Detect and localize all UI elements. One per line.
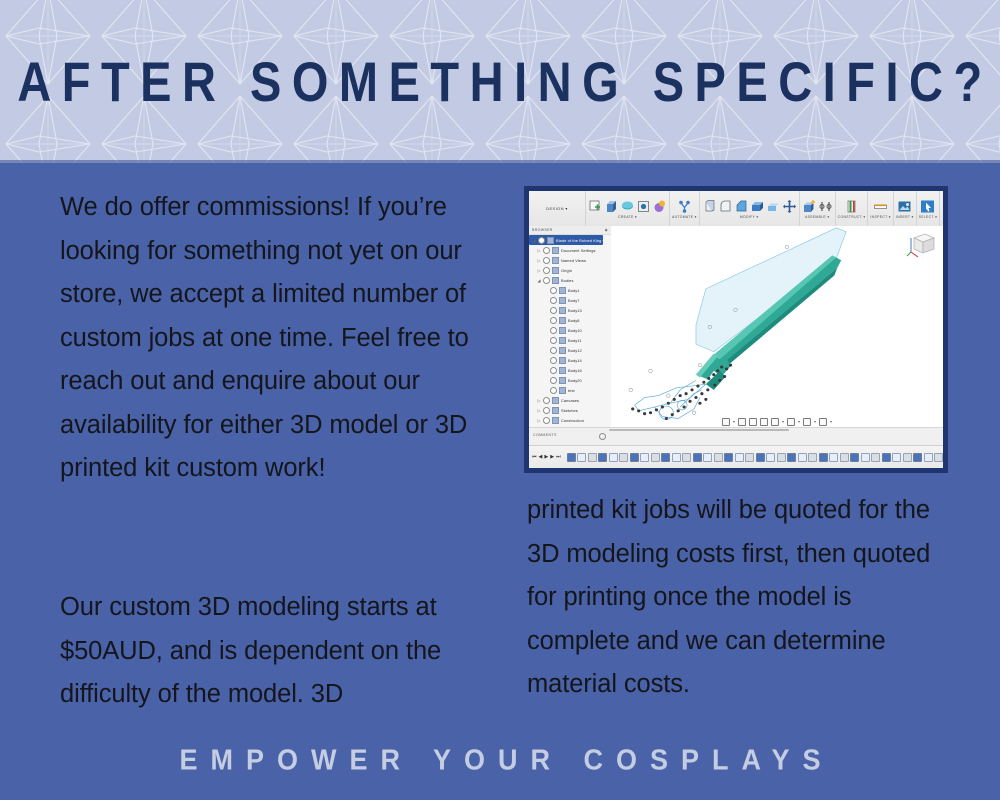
comments-panel-label: COMMENTS (533, 433, 557, 437)
paragraph-pricing-start: Our custom 3D modeling starts at $50AUD,… (60, 586, 500, 717)
timeline-feature-icon[interactable] (913, 453, 922, 462)
timeline-feature-icon[interactable] (598, 453, 607, 462)
look-at-chevron-down-icon[interactable]: ▾ (782, 419, 784, 425)
timeline-feature-icon[interactable] (945, 453, 948, 462)
sword-model-graphic (611, 226, 943, 428)
timeline-feature-icon[interactable] (693, 453, 702, 462)
visibility-eye-icon[interactable] (543, 267, 550, 274)
poster-page: AFTER SOMETHING SPECIFIC? We do offer co… (0, 0, 1000, 800)
model-viewport[interactable]: ▾ ▾ ▾ ▾ ▾ (611, 226, 943, 428)
timeline-feature-icon[interactable] (619, 453, 628, 462)
body-icon (559, 367, 566, 374)
browser-tree-item-label: Body11 (568, 338, 582, 343)
views-icon (552, 257, 559, 264)
visibility-eye-icon[interactable] (550, 307, 557, 314)
document-icon (547, 237, 554, 244)
look-at-icon[interactable] (771, 418, 779, 426)
origin-icon (552, 267, 559, 274)
grid-settings-icon[interactable] (803, 418, 811, 426)
timeline-scrollbar[interactable] (609, 429, 789, 431)
comments-options-icon[interactable] (599, 433, 606, 440)
timeline-feature-icon[interactable] (588, 453, 597, 462)
timeline-feature-icon[interactable] (808, 453, 817, 462)
expand-triangle-right-icon[interactable]: ▷ (537, 408, 541, 413)
visibility-eye-icon[interactable] (543, 277, 550, 284)
visibility-eye-icon[interactable] (543, 247, 550, 254)
reference-canvas-plane (696, 228, 846, 352)
new-sketch-icon[interactable] (588, 199, 603, 214)
offset-plane-icon[interactable] (844, 199, 859, 214)
expand-triangle-down-icon[interactable]: ◢ (537, 278, 541, 283)
browser-tree-item[interactable]: Body20 (529, 375, 611, 385)
expand-triangle-down-icon[interactable]: ◢ (532, 238, 536, 243)
toolbar-group-assemble: ASSEMBLE ▾ (800, 191, 836, 226)
visibility-eye-icon[interactable] (543, 417, 550, 424)
timeline-feature-icon[interactable] (787, 453, 796, 462)
timeline-feature-icon[interactable] (840, 453, 849, 462)
toolbar-group-create: CREATE ▾ (586, 191, 670, 226)
toolbar-group-construct: CONSTRUCT ▾ (836, 191, 869, 226)
visibility-eye-icon[interactable] (550, 377, 557, 384)
browser-tree-item-label: Origin (561, 268, 572, 273)
timeline-feature-icon[interactable] (714, 453, 723, 462)
sketches-icon (552, 407, 559, 414)
browser-tree-item-label: Sketches (561, 408, 578, 413)
body-icon (559, 337, 566, 344)
toolbar-group-inspect: INSPECT ▾ (868, 191, 893, 226)
canvases-icon (552, 397, 559, 404)
toolbar-group-insert: INSERT ▾ (894, 191, 917, 226)
view-cube-icon[interactable] (903, 230, 937, 262)
viewport-navigation-bar[interactable]: ▾ ▾ ▾ ▾ ▾ (722, 418, 832, 426)
cad-screenshot: DESIGN ▾ (524, 186, 948, 473)
browser-panel-header: BROWSER ◉ (529, 226, 611, 235)
paragraph-pricing-continued: printed kit jobs will be quoted for the … (527, 489, 947, 707)
browser-tree-item-label: Body20 (568, 378, 582, 383)
browser-tree-item[interactable]: Body16 (529, 365, 611, 375)
visibility-eye-icon[interactable] (550, 367, 557, 374)
timeline-feature-icon[interactable] (630, 453, 639, 462)
hole-icon[interactable] (636, 199, 651, 214)
timeline-feature-icon[interactable] (724, 453, 733, 462)
visibility-eye-icon[interactable] (538, 237, 545, 244)
timeline-feature-icon[interactable] (777, 453, 786, 462)
visibility-eye-icon[interactable] (550, 357, 557, 364)
expand-triangle-right-icon[interactable]: ▷ (537, 418, 541, 423)
browser-tree-item[interactable]: ◢Blade of the Ruined King v23 (529, 235, 603, 245)
joint-icon[interactable] (818, 199, 833, 214)
visibility-eye-icon[interactable] (543, 397, 550, 404)
timeline-feature-icon[interactable] (766, 453, 775, 462)
timeline-feature-icon[interactable] (882, 453, 891, 462)
sphere-icon[interactable] (652, 199, 667, 214)
insert-canvas-icon[interactable] (897, 199, 912, 214)
browser-tree-item[interactable]: Body14 (529, 355, 611, 365)
grid-chevron-down-icon[interactable]: ▾ (814, 419, 816, 425)
toolbar-group-select: SELECT ▾ (917, 191, 941, 226)
timeline-feature-icon[interactable] (819, 453, 828, 462)
browser-tree-item-label: Blade of the Ruined King v23 (556, 238, 603, 243)
construction-icon (552, 417, 559, 424)
timeline-feature-icon[interactable] (661, 453, 670, 462)
browser-tree-item[interactable]: Body7 (529, 295, 611, 305)
browser-tree-item-label: Body14 (568, 358, 582, 363)
chamfer-icon[interactable] (734, 199, 749, 214)
browser-tree-item[interactable]: Body8 (529, 315, 611, 325)
browser-tree-item[interactable]: Body11 (529, 335, 611, 345)
header-banner: AFTER SOMETHING SPECIFIC? (0, 0, 1000, 163)
browser-panel-title: BROWSER (532, 228, 553, 232)
toolbar-group-assemble-label: ASSEMBLE ▾ (805, 214, 829, 220)
browser-tree-item-label: Body10 (568, 328, 582, 333)
browser-tree-item-label: Body13 (568, 308, 582, 313)
timeline-feature-icon[interactable] (640, 453, 649, 462)
scale-icon[interactable] (766, 199, 781, 214)
browser-tree-item-label: Bodies (561, 278, 574, 283)
step-back-icon[interactable]: ◀ (539, 453, 543, 461)
visibility-eye-icon[interactable] (550, 287, 557, 294)
viewports-chevron-down-icon[interactable]: ▾ (830, 419, 832, 425)
display-chevron-down-icon[interactable]: ▾ (798, 419, 800, 425)
play-icon[interactable]: ▶ (544, 453, 548, 461)
timeline-feature-icon[interactable] (735, 453, 744, 462)
sketch-points (631, 364, 732, 420)
viewports-icon[interactable] (819, 418, 827, 426)
select-cursor-icon[interactable] (920, 199, 935, 214)
browser-tree-item-label: Canvases (561, 398, 579, 403)
browser-tree-item-label: Named Views (561, 258, 586, 263)
timeline-feature-icon[interactable] (850, 453, 859, 462)
timeline-feature-icon[interactable] (682, 453, 691, 462)
timeline-feature-icon[interactable] (829, 453, 838, 462)
step-forward-icon[interactable]: ▶ (550, 453, 554, 461)
timeline-feature-icon[interactable] (609, 453, 618, 462)
visibility-eye-icon[interactable] (550, 337, 557, 344)
timeline-feature-icon[interactable] (934, 453, 943, 462)
browser-tree: ◢Blade of the Ruined King v23▷Document S… (529, 235, 611, 425)
browser-tree-item-label: Body16 (568, 368, 582, 373)
browser-tree-item[interactable]: Body1 (529, 285, 611, 295)
browser-tree-item-label: Body8 (568, 318, 580, 323)
toolbar-group-automate-label: AUTOMATE ▾ (672, 214, 697, 220)
timeline-feature-icon[interactable] (798, 453, 807, 462)
body-icon (559, 347, 566, 354)
cad-toolbar: DESIGN ▾ (529, 191, 943, 227)
toolbar-group-select-label: SELECT ▾ (919, 214, 938, 220)
body-icon (559, 387, 566, 394)
browser-tree-item-label: Document Settings (561, 248, 596, 253)
timeline-feature-icon[interactable] (577, 453, 586, 462)
browser-tree-item[interactable]: ▷Named Views (529, 255, 611, 265)
shell-icon[interactable] (750, 199, 765, 214)
toolbar-group-automate: AUTOMATE ▾ (670, 191, 700, 226)
go-to-end-icon[interactable]: ⏭ (556, 453, 561, 461)
body-icon (559, 357, 566, 364)
body-icon (559, 307, 566, 314)
timeline-feature-icon[interactable] (892, 453, 901, 462)
timeline-feature-icon[interactable] (903, 453, 912, 462)
paragraph-commissions: We do offer commissions! If you’re looki… (60, 186, 500, 491)
expand-triangle-right-icon[interactable]: ▷ (537, 248, 541, 253)
expand-triangle-right-icon[interactable]: ▷ (537, 398, 541, 403)
timeline-feature-icon[interactable] (861, 453, 870, 462)
automate-icon[interactable] (677, 199, 692, 214)
measure-icon[interactable] (873, 199, 888, 214)
body-icon (559, 297, 566, 304)
browser-tree-item[interactable]: ▷Sketches (529, 405, 611, 415)
toolbar-group-create-label: CREATE ▾ (618, 214, 637, 220)
visibility-eye-icon[interactable] (543, 257, 550, 264)
browser-tree-item[interactable]: Body13 (529, 305, 611, 315)
page-title: AFTER SOMETHING SPECIFIC? (0, 0, 1000, 163)
cad-app-window: DESIGN ▾ (529, 191, 943, 468)
timeline-feature-list[interactable] (567, 453, 948, 462)
timeline-feature-icon[interactable] (567, 453, 576, 462)
timeline-feature-icon[interactable] (756, 453, 765, 462)
browser-tree-item-label: Body12 (568, 348, 582, 353)
go-to-beginning-icon[interactable]: ⏮ (532, 453, 537, 461)
comments-panel[interactable]: COMMENTS (529, 427, 943, 446)
browser-tree-item-label: Body1 (568, 288, 580, 293)
visibility-eye-icon[interactable] (543, 407, 550, 414)
expand-triangle-right-icon[interactable]: ▷ (537, 268, 541, 273)
browser-tree-item[interactable]: ◢Bodies (529, 275, 611, 285)
workspace-selector[interactable]: DESIGN ▾ (529, 191, 586, 226)
timeline-feature-icon[interactable] (651, 453, 660, 462)
browser-tree-item[interactable]: ▷Document Settings (529, 245, 611, 255)
toolbar-group-modify: MODIFY ▾ (700, 191, 800, 226)
browser-tree-item[interactable]: ▷Canvases (529, 395, 611, 405)
browser-tree-item[interactable]: test (529, 385, 611, 395)
browser-tree-item-label: Body7 (568, 298, 580, 303)
visibility-eye-icon[interactable] (550, 387, 557, 394)
expand-triangle-right-icon[interactable]: ▷ (537, 258, 541, 263)
move-copy-icon[interactable] (782, 199, 797, 214)
settings-icon (552, 247, 559, 254)
visibility-eye-icon[interactable] (550, 327, 557, 334)
revolve-icon[interactable] (620, 199, 635, 214)
browser-tree-item[interactable]: ▷Origin (529, 265, 611, 275)
body-icon (559, 287, 566, 294)
press-pull-icon[interactable] (702, 199, 717, 214)
footer-tagline: EMPOWER YOUR COSPLAYS (0, 734, 1000, 787)
bodies-icon (552, 277, 559, 284)
display-settings-icon[interactable] (787, 418, 795, 426)
visibility-eye-icon[interactable] (550, 297, 557, 304)
browser-options-icon[interactable]: ◉ (605, 228, 608, 232)
toolbar-group-modify-label: MODIFY ▾ (740, 214, 759, 220)
browser-tree-item-label: test (568, 388, 575, 393)
body-icon (559, 327, 566, 334)
fillet-icon[interactable] (718, 199, 733, 214)
timeline-feature-icon[interactable] (871, 453, 880, 462)
fit-icon[interactable] (760, 418, 768, 426)
browser-panel: BROWSER ◉ ◢Blade of the Ruined King v23▷… (529, 226, 612, 428)
timeline-feature-icon[interactable] (745, 453, 754, 462)
visibility-eye-icon[interactable] (550, 347, 557, 354)
toolbar-group-inspect-label: INSPECT ▾ (870, 214, 890, 220)
body-icon (559, 377, 566, 384)
timeline-bar[interactable]: ⏮ ◀ ▶ ▶ ⏭ (529, 445, 946, 468)
body-icon (559, 317, 566, 324)
extrude-icon[interactable] (604, 199, 619, 214)
timeline-feature-icon[interactable] (924, 453, 933, 462)
orbit-chevron-down-icon[interactable]: ▾ (733, 419, 735, 425)
toolbar-group-insert-label: INSERT ▾ (896, 214, 914, 220)
browser-tree-item[interactable]: Body10 (529, 325, 611, 335)
timeline-feature-icon[interactable] (703, 453, 712, 462)
timeline-feature-icon[interactable] (672, 453, 681, 462)
new-component-icon[interactable] (802, 199, 817, 214)
orbit-icon[interactable] (722, 418, 730, 426)
browser-tree-item[interactable]: ▷Construction (529, 415, 611, 425)
zoom-icon[interactable] (749, 418, 757, 426)
browser-tree-item-label: Construction (561, 418, 584, 423)
browser-tree-item[interactable]: Body12 (529, 345, 611, 355)
visibility-eye-icon[interactable] (550, 317, 557, 324)
toolbar-group-construct-label: CONSTRUCT ▾ (838, 214, 866, 220)
pan-icon[interactable] (738, 418, 746, 426)
